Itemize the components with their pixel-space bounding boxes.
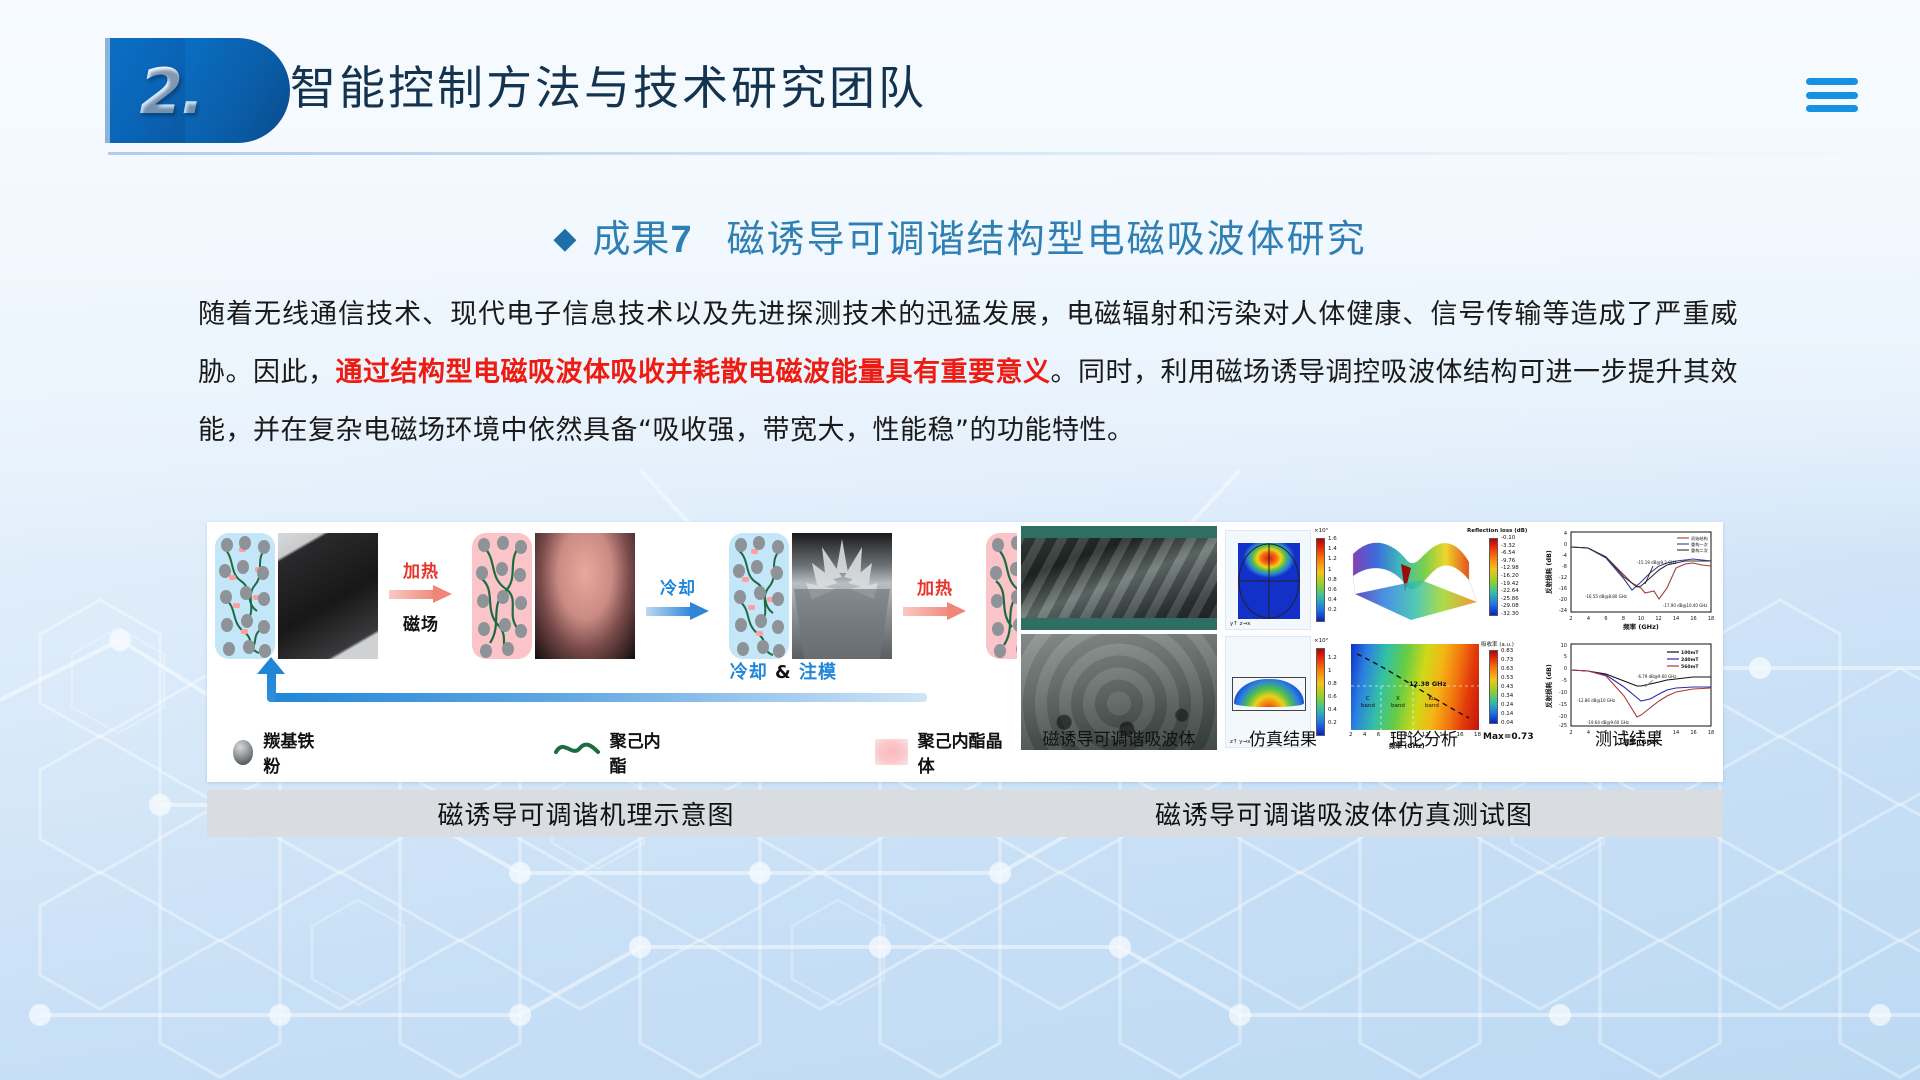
- coral-foam-photo: [535, 533, 635, 659]
- svg-text:-16.55 dB@8.80 GHz: -16.55 dB@8.80 GHz: [1585, 594, 1627, 599]
- svg-text:4: 4: [1564, 531, 1567, 537]
- simulation-colorbar-bottom: [1316, 648, 1325, 736]
- svg-text:反射损耗 (dB): 反射损耗 (dB): [1544, 550, 1553, 594]
- svg-text:-12: -12: [1559, 575, 1567, 581]
- caption-simulation-test: 磁诱导可调谐吸波体仿真测试图: [965, 790, 1723, 837]
- slide-header: 2. 智能控制方法与技术研究团队: [0, 0, 1920, 158]
- body-text-panel: 随着无线通信技术、现代电子信息技术以及先进探测技术的迅猛发展，电磁辐射和污染对人…: [198, 286, 1738, 460]
- svg-text:-20: -20: [1559, 597, 1567, 603]
- arrow-label-cool-1: 冷却: [635, 574, 721, 599]
- svg-text:14: 14: [1673, 616, 1679, 622]
- svg-text:-17.90 dB@10.40 GHz: -17.90 dB@10.40 GHz: [1663, 603, 1707, 608]
- recycle-arrow-head-icon: [257, 657, 285, 674]
- absorber-sample-photos-column: 磁诱导可调谐吸波体: [1021, 526, 1217, 752]
- absorption-colorbar: [1489, 650, 1498, 724]
- page-title: 智能控制方法与技术研究团队: [290, 52, 927, 118]
- theory-surface-colorbar: [1489, 538, 1498, 616]
- pcl-chain-wave-icon: [554, 740, 600, 765]
- svg-text:12: 12: [1655, 616, 1661, 622]
- svg-text:6: 6: [1604, 616, 1607, 622]
- recycle-label: 冷却 & 注模: [730, 658, 837, 684]
- recycle-loop-arrow: 冷却 & 注模: [257, 662, 927, 708]
- legend-item-iron-powder: 羰基铁粉: [233, 727, 330, 777]
- svg-text:重构二次: 重构二次: [1691, 547, 1709, 554]
- svg-text:5: 5: [1564, 654, 1567, 660]
- svg-text:重构一次: 重构一次: [1691, 541, 1709, 548]
- panel-label-absorber: 磁诱导可调谐吸波体: [1021, 725, 1217, 750]
- svg-text:-15: -15: [1559, 702, 1567, 708]
- steel-cup-photo: [792, 533, 892, 659]
- heatmap-annotation: 12.38 GHz: [1409, 680, 1446, 688]
- panel-label-simulation: 仿真结果: [1221, 725, 1345, 750]
- svg-text:560mT: 560mT: [1681, 664, 1699, 670]
- panel-label-theory: 理论分析: [1349, 725, 1499, 750]
- svg-text:4: 4: [1587, 616, 1590, 622]
- arrow-label-heat-1: 加热: [378, 557, 464, 582]
- arrow-icon-2: [646, 603, 710, 619]
- svg-text:-4: -4: [1562, 553, 1567, 559]
- sim-colorbar-ticks-top: 1.61.41.210.80.60.40.2: [1328, 534, 1337, 616]
- molecule-cell-pink-1: [472, 533, 532, 659]
- svg-text:-16: -16: [1559, 586, 1567, 592]
- section-subtitle: ◆成果7磁诱导可调谐结构型电磁吸波体研究: [0, 208, 1920, 263]
- band-label-ku: Kuband: [1425, 696, 1439, 710]
- mechanism-step-row: 加热 磁场: [207, 528, 1017, 664]
- svg-text:240mT: 240mT: [1681, 657, 1699, 663]
- svg-text:-10: -10: [1559, 690, 1567, 696]
- carbonyl-iron-ball-icon: [233, 740, 253, 765]
- recycle-label-amp: &: [768, 662, 799, 683]
- pcl-crystal-swatch-icon: [875, 739, 908, 765]
- simulation-results-column: y↑ z→x ×10³ 1.61.41.210.80.60.40.2 z↑ y→…: [1221, 526, 1345, 752]
- legend-label-iron-powder: 羰基铁粉: [263, 727, 329, 777]
- molecule-cell-blue-1: [215, 533, 275, 659]
- reflection-loss-3d-surface: [1349, 528, 1483, 632]
- header-divider: [108, 152, 1920, 155]
- description-paragraph: 随着无线通信技术、现代电子信息技术以及先进探测技术的迅猛发展，电磁辐射和污染对人…: [198, 286, 1738, 460]
- sim-axes-label-top: y↑ z→x: [1230, 621, 1250, 627]
- svg-text:-24: -24: [1559, 608, 1567, 614]
- arrow-label-heat-2: 加热: [892, 574, 978, 599]
- black-slab-photo: [278, 533, 378, 659]
- molecule-cell-blue-2: [729, 533, 789, 659]
- heating-arrow-group-1: 加热 磁场: [378, 557, 464, 635]
- svg-text:100mT: 100mT: [1681, 650, 1699, 656]
- hamburger-menu-icon[interactable]: [1806, 78, 1858, 112]
- heating-arrow-group-2: 加热: [892, 574, 978, 619]
- cutting-mat-band-bottom: [1021, 618, 1217, 630]
- svg-text:2: 2: [1569, 616, 1572, 622]
- sim-colorbar-exponent-top: ×10³: [1314, 528, 1328, 534]
- mechanism-legend: 羰基铁粉 聚己内酯 聚己内酯晶体: [207, 732, 1017, 772]
- absorption-colorbar-ticks: 0.830.730.630.530.430.340.240.140.04: [1501, 647, 1513, 728]
- figure-caption-bar: 磁诱导可调谐机理示意图 磁诱导可调谐吸波体仿真测试图: [207, 790, 1723, 837]
- achievement-label: 成果7: [592, 217, 692, 261]
- svg-text:0: 0: [1564, 666, 1567, 672]
- arrow-icon-1: [389, 586, 453, 602]
- section-number: 2.: [126, 48, 216, 136]
- simulation-field-top: y↑ z→x: [1225, 530, 1311, 630]
- recycle-label-cool: 冷却: [730, 662, 768, 683]
- simulation-test-composite: 磁诱导可调谐吸波体 y↑ z→x ×10³ 1.61.41.210.80.60.…: [1017, 522, 1723, 782]
- test-chart-top: 40 -4-8 -12-16 -20-24 24 68 1012 1416 18…: [1541, 528, 1717, 636]
- recycle-arrow-vertical: [267, 670, 276, 702]
- svg-text:-5: -5: [1562, 678, 1567, 684]
- theory-analysis-column: Reflection loss (dB) -0.10-3.32-6.54-9.7…: [1349, 526, 1535, 752]
- absorption-heatmap: 12.38 GHz Cband Xband Kuband: [1351, 644, 1479, 730]
- svg-text:频率 (GHz): 频率 (GHz): [1623, 622, 1659, 631]
- legend-item-pcl-crystal: 聚己内酯晶体: [875, 727, 1017, 777]
- svg-text:-12.86 dB@10 GHz: -12.86 dB@10 GHz: [1577, 698, 1615, 703]
- band-label-c: Cband: [1361, 696, 1375, 710]
- svg-text:8: 8: [1622, 616, 1625, 622]
- mechanism-schematic: 加热 磁场: [207, 522, 1017, 782]
- menu-line-2: [1806, 92, 1858, 99]
- simulation-colorbar-top: [1316, 538, 1325, 622]
- achievement-number: 7: [670, 219, 692, 261]
- theory-surface-colorbar-ticks: -0.10-3.32-6.54-9.76-12.98-16.20-19.42-2…: [1501, 535, 1519, 619]
- field-topview-overlay: [1238, 543, 1300, 619]
- svg-text:10: 10: [1561, 643, 1567, 649]
- svg-text:16: 16: [1690, 616, 1696, 622]
- achievement-title: 磁诱导可调谐结构型电磁吸波体研究: [727, 217, 1367, 261]
- svg-text:初始结构: 初始结构: [1691, 535, 1708, 542]
- legend-label-pcl-crystal: 聚己内酯晶体: [918, 727, 1017, 777]
- figure-composite: 加热 磁场: [207, 522, 1723, 782]
- cutting-mat-band-top: [1021, 526, 1217, 538]
- sim-colorbar-ticks-bottom: 1.210.80.60.40.2: [1328, 652, 1337, 730]
- cooling-arrow-group-1: 冷却: [635, 574, 721, 619]
- svg-text:反射损耗 (dB): 反射损耗 (dB): [1544, 664, 1553, 708]
- band-label-x: Xband: [1391, 696, 1405, 710]
- menu-line-3: [1806, 105, 1858, 112]
- arrow-label-magnetic-field: 磁场: [378, 610, 464, 635]
- paragraph-highlight: 通过结构型电磁吸波体吸收并耗散电磁波能量具有重要意义: [336, 357, 1051, 388]
- menu-line-1: [1806, 78, 1858, 85]
- absorber-sample-photo-top: [1021, 526, 1217, 630]
- panel-label-test: 测试结果: [1539, 725, 1719, 750]
- svg-text:18: 18: [1708, 616, 1714, 622]
- svg-text:-8: -8: [1562, 564, 1567, 570]
- recycle-arrow-horizontal: [267, 693, 927, 702]
- caption-mechanism: 磁诱导可调谐机理示意图: [207, 790, 965, 837]
- legend-item-pcl: 聚己内酯: [554, 727, 675, 777]
- theory-surface-colorbar-title: Reflection loss (dB): [1467, 528, 1527, 534]
- field-sideview-frame: [1232, 677, 1306, 711]
- svg-text:-6.79 dB@9.60 GHz: -6.79 dB@9.60 GHz: [1637, 674, 1676, 679]
- test-results-column: 40 -4-8 -12-16 -20-24 24 68 1012 1416 18…: [1539, 526, 1719, 752]
- svg-text:0: 0: [1564, 542, 1567, 548]
- sim-colorbar-exponent-bottom: ×10³: [1314, 638, 1328, 644]
- svg-text:-20: -20: [1559, 714, 1567, 720]
- diamond-bullet-icon: ◆: [553, 222, 576, 255]
- legend-label-pcl: 聚己内酯: [610, 727, 675, 777]
- recycle-label-mold: 注模: [799, 662, 837, 683]
- arrow-icon-3: [903, 603, 967, 619]
- svg-text:-15.19 dB@9.2 GHz: -15.19 dB@9.2 GHz: [1637, 560, 1676, 565]
- svg-text:10: 10: [1638, 616, 1644, 622]
